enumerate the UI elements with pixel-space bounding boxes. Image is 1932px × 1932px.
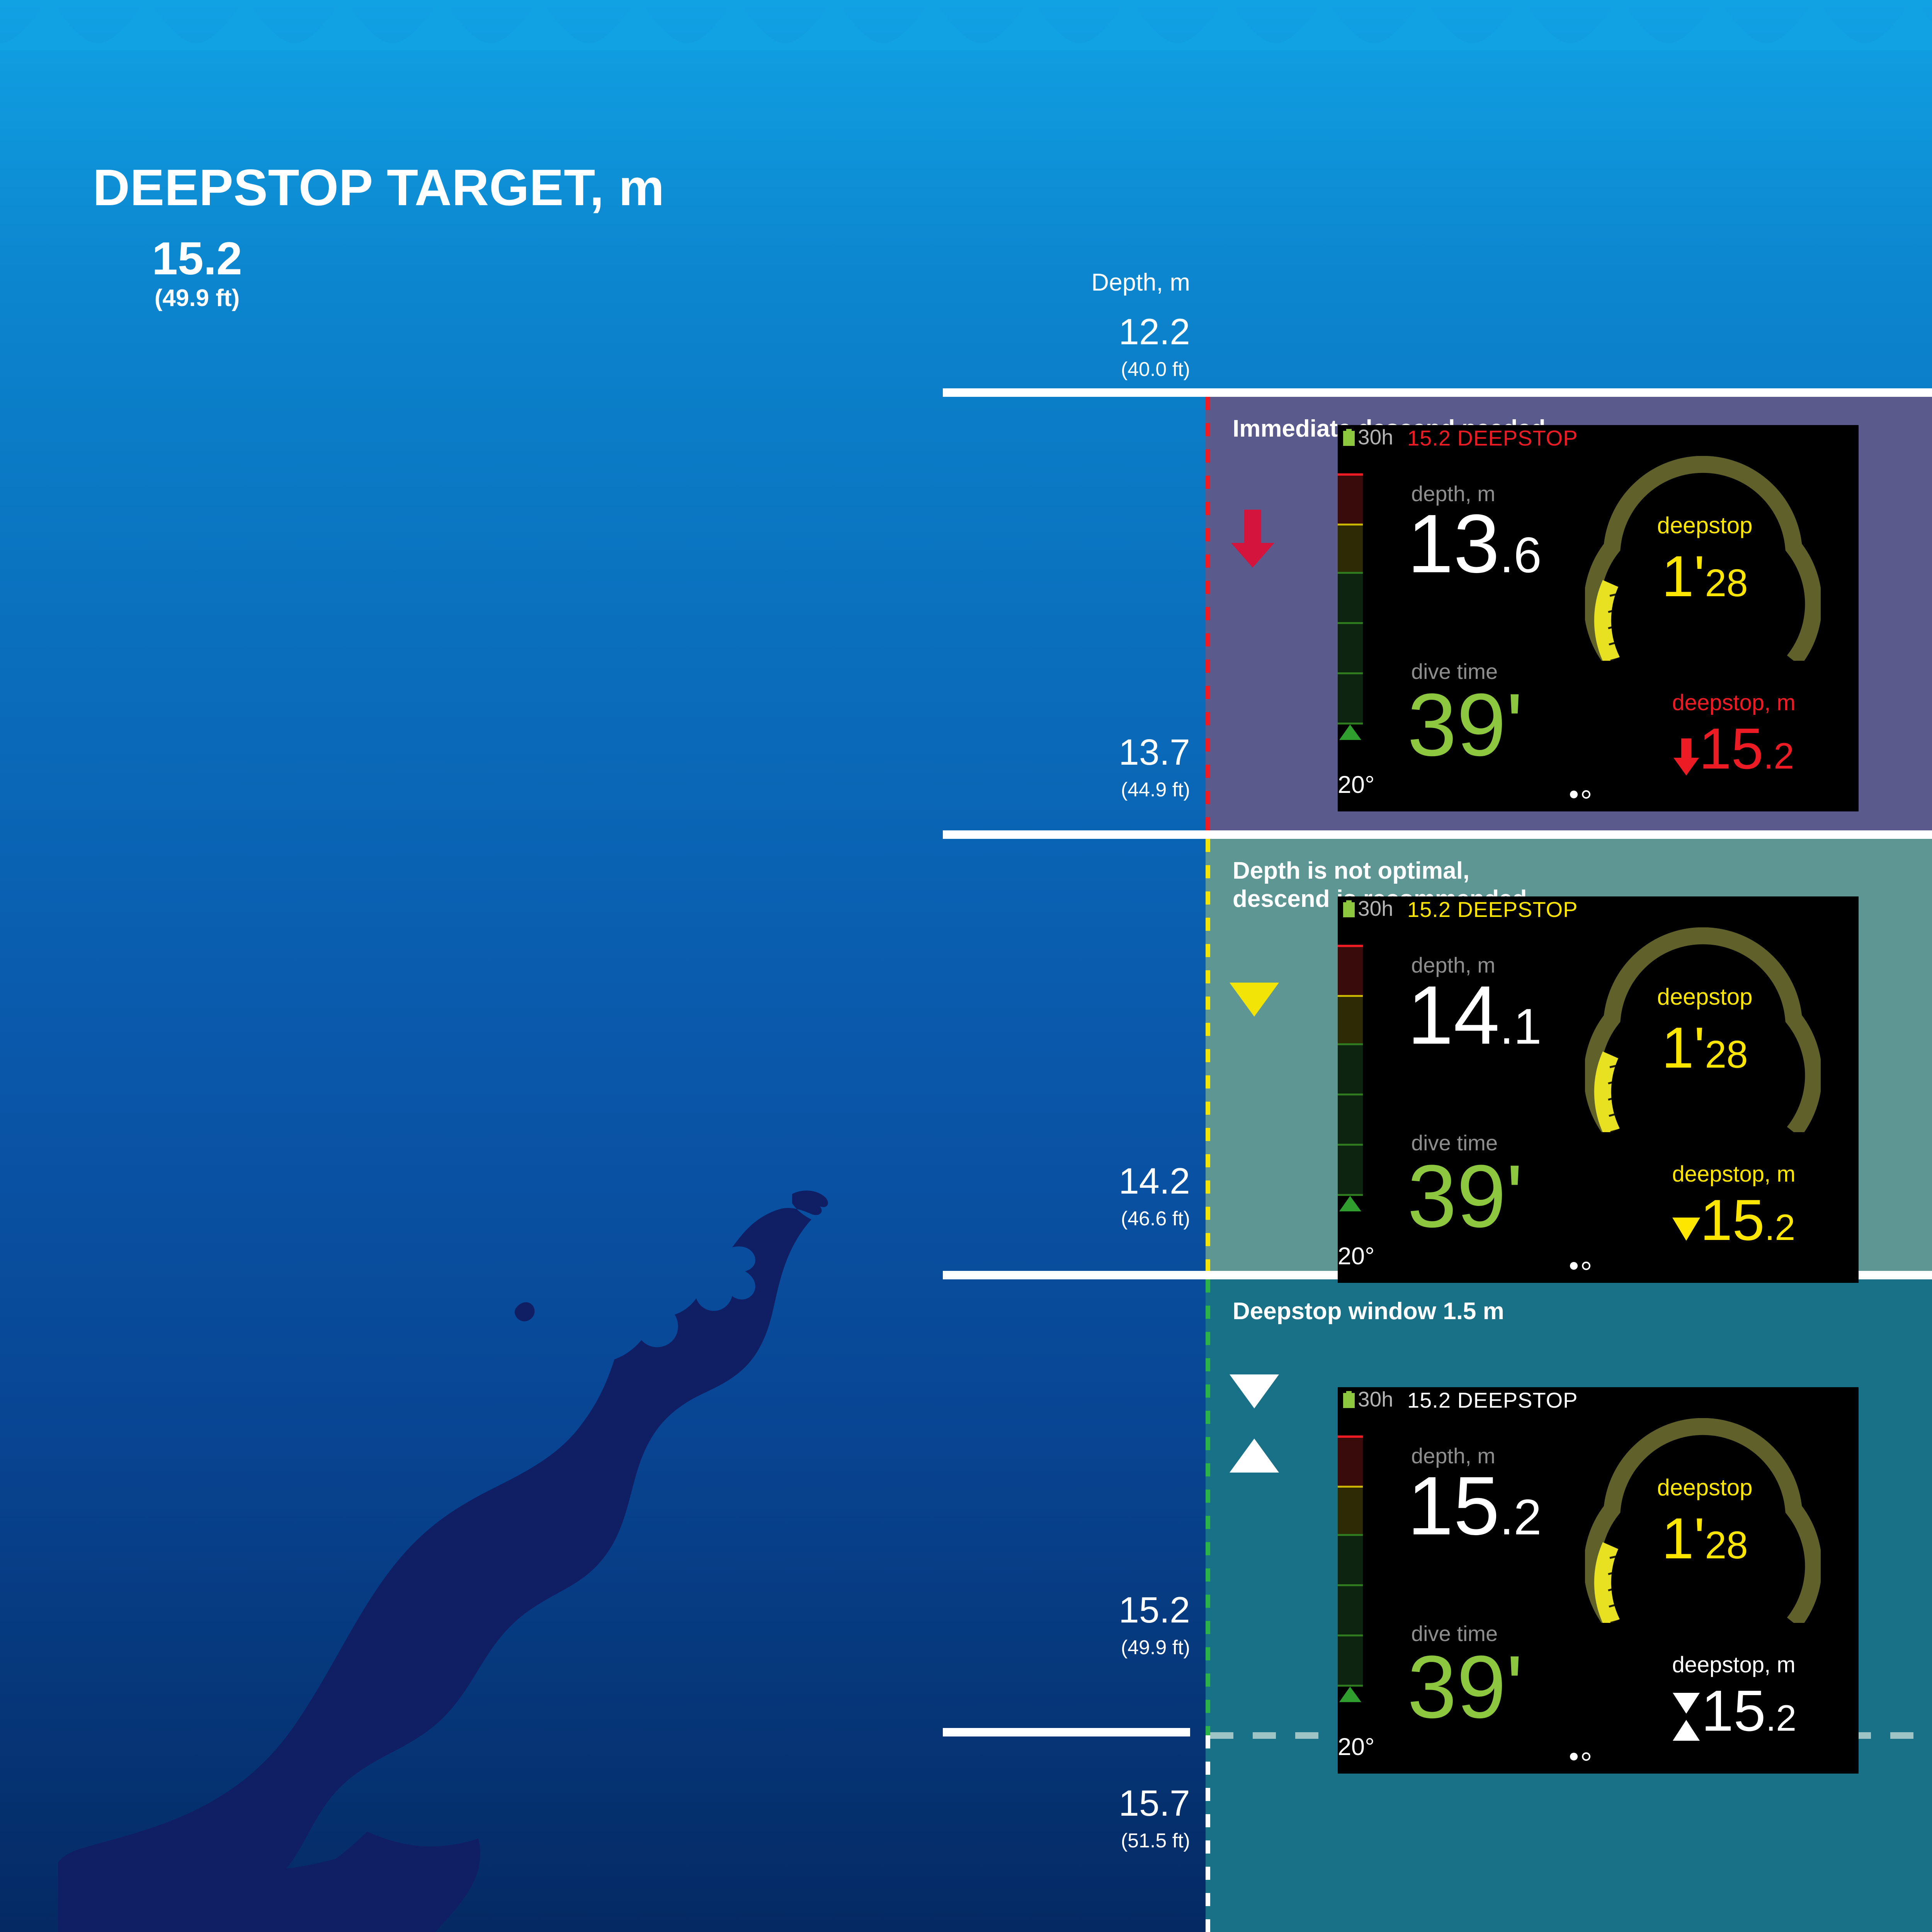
deepstop-depth-dec: .2 (1765, 1207, 1795, 1248)
deepstop-timer-value: 1'28 (1647, 1020, 1763, 1075)
battery-icon (1343, 429, 1355, 446)
dive-computer-display-yellow[interactable]: 30h 15.2 DEEPSTOP 20° depth, m 14.1 dive… (1338, 896, 1859, 1283)
depth-int: 14 (1407, 968, 1500, 1061)
deepstop-depth-dec: .2 (1766, 1698, 1796, 1739)
depth-int: 13 (1407, 497, 1500, 590)
band-3-dash-left-lower (1206, 1735, 1210, 1932)
axis-tick-12-2-ft: (40.0 ft) (943, 359, 1190, 379)
deepstop-depth-label: deepstop, m (1643, 1163, 1825, 1185)
battery-icon (1343, 900, 1355, 917)
deepstop-timer-sec: 28 (1705, 1033, 1748, 1076)
deepstop-timer-min: 1' (1662, 544, 1705, 609)
depth-scale-chart: Depth, m 12.2 (40.0 ft) Immediate descen… (943, 270, 1932, 1932)
dive-time-value: 39' (1407, 1647, 1523, 1727)
deepstop-depth-value: 15.2 (1643, 1194, 1825, 1246)
down-arrow-icon (1673, 738, 1699, 776)
depth-dec: .2 (1500, 1489, 1541, 1545)
battery-icon (1343, 1391, 1355, 1408)
deepstop-depth-value: 15.2 (1643, 1685, 1825, 1742)
depth-value: 15.2 (1407, 1468, 1542, 1543)
axis-header: Depth, m (943, 270, 1190, 295)
watch-header: 15.2 DEEPSTOP (1407, 899, 1578, 920)
axis-tick-12-2-m: 12.2 (943, 314, 1190, 350)
axis-tick-15-2-m: 15.2 (943, 1592, 1190, 1629)
page-dots-indicator (1570, 1752, 1593, 1761)
rule-12-2 (943, 388, 1932, 397)
deepstop-depth-dec: .2 (1764, 736, 1794, 777)
down-arrow-red-icon (1231, 510, 1274, 568)
deepstop-timer-min: 1' (1662, 1506, 1705, 1571)
wave-surface-decoration (0, 0, 1932, 50)
deepstop-timer-label: deepstop (1647, 1476, 1763, 1499)
axis-tick-14-2-m: 14.2 (943, 1163, 1190, 1200)
page-title: DEEPSTOP TARGET, m (93, 162, 665, 214)
water-temperature: 20° (1338, 773, 1374, 797)
ascent-rate-bar (1338, 945, 1363, 1211)
depth-value: 13.6 (1407, 506, 1542, 581)
band-1-dash-left (1206, 397, 1210, 830)
down-triangle-white-icon (1230, 1374, 1279, 1408)
depth-value: 14.1 (1407, 978, 1542, 1053)
axis-tick-15-7-m: 15.7 (943, 1785, 1190, 1822)
axis-tick-13-7-m: 13.7 (943, 734, 1190, 771)
deepstop-depth-int: 15 (1701, 1678, 1766, 1743)
axis-tick-15-2-ft: (49.9 ft) (943, 1638, 1190, 1658)
band-3-label: Deepstop window 1.5 m (1233, 1297, 1557, 1325)
deepstop-depth-int: 15 (1699, 716, 1764, 781)
battery-hours: 30h (1358, 898, 1393, 919)
down-up-triangle-icon (1671, 1692, 1701, 1742)
watch-header: 15.2 DEEPSTOP (1407, 1389, 1578, 1411)
watch-header: 15.2 DEEPSTOP (1407, 427, 1578, 449)
battery-hours: 30h (1358, 427, 1393, 448)
water-temperature: 20° (1338, 1244, 1374, 1269)
deepstop-target-value: 15.2 (93, 235, 301, 282)
battery-hours: 30h (1358, 1389, 1393, 1410)
deepstop-timer-label: deepstop (1647, 514, 1763, 537)
band-2-dash-left (1206, 839, 1210, 1271)
deepstop-timer-sec: 28 (1705, 1524, 1748, 1567)
deepstop-timer-sec: 28 (1705, 561, 1748, 605)
ascent-rate-bar (1338, 1435, 1363, 1702)
deepstop-depth-int: 15 (1700, 1187, 1765, 1252)
title-block: DEEPSTOP TARGET, m 15.2 (49.9 ft) (93, 162, 665, 310)
diver-silhouette (58, 1101, 842, 1932)
rule-13-7 (943, 830, 1932, 839)
page-dots-indicator (1570, 1262, 1593, 1270)
rule-15-2-target (943, 1728, 1190, 1736)
depth-dec: .6 (1500, 527, 1541, 583)
down-triangle-icon (1672, 1218, 1700, 1241)
dive-computer-display-red[interactable]: 30h 15.2 DEEPSTOP 20° depth, m 13.6 dive… (1338, 425, 1859, 811)
band-3-dash-left-upper (1206, 1279, 1210, 1735)
down-triangle-yellow-icon (1230, 983, 1279, 1017)
deepstop-timer-label: deepstop (1647, 985, 1763, 1009)
axis-tick-15-7-ft: (51.5 ft) (943, 1831, 1190, 1851)
axis-tick-13-7-ft: (44.9 ft) (943, 780, 1190, 800)
deepstop-depth-label: deepstop, m (1643, 1654, 1825, 1676)
depth-int: 15 (1407, 1459, 1500, 1552)
depth-dec: .1 (1500, 998, 1541, 1054)
dive-time-value: 39' (1407, 1156, 1523, 1236)
deepstop-timer-min: 1' (1662, 1015, 1705, 1080)
deepstop-target-value-feet: (49.9 ft) (93, 286, 301, 310)
deepstop-timer-value: 1'28 (1647, 1511, 1763, 1566)
ascent-rate-bar (1338, 473, 1363, 740)
dive-computer-display-white[interactable]: 30h 15.2 DEEPSTOP 20° depth, m 15.2 dive… (1338, 1387, 1859, 1774)
up-triangle-white-icon (1230, 1439, 1279, 1473)
deepstop-depth-label: deepstop, m (1643, 692, 1825, 714)
dive-time-value: 39' (1407, 685, 1523, 765)
axis-tick-14-2-ft: (46.6 ft) (943, 1209, 1190, 1229)
deepstop-timer-value: 1'28 (1647, 549, 1763, 604)
deepstop-depth-value: 15.2 (1643, 723, 1825, 776)
water-temperature: 20° (1338, 1735, 1374, 1759)
page-dots-indicator (1570, 790, 1593, 799)
